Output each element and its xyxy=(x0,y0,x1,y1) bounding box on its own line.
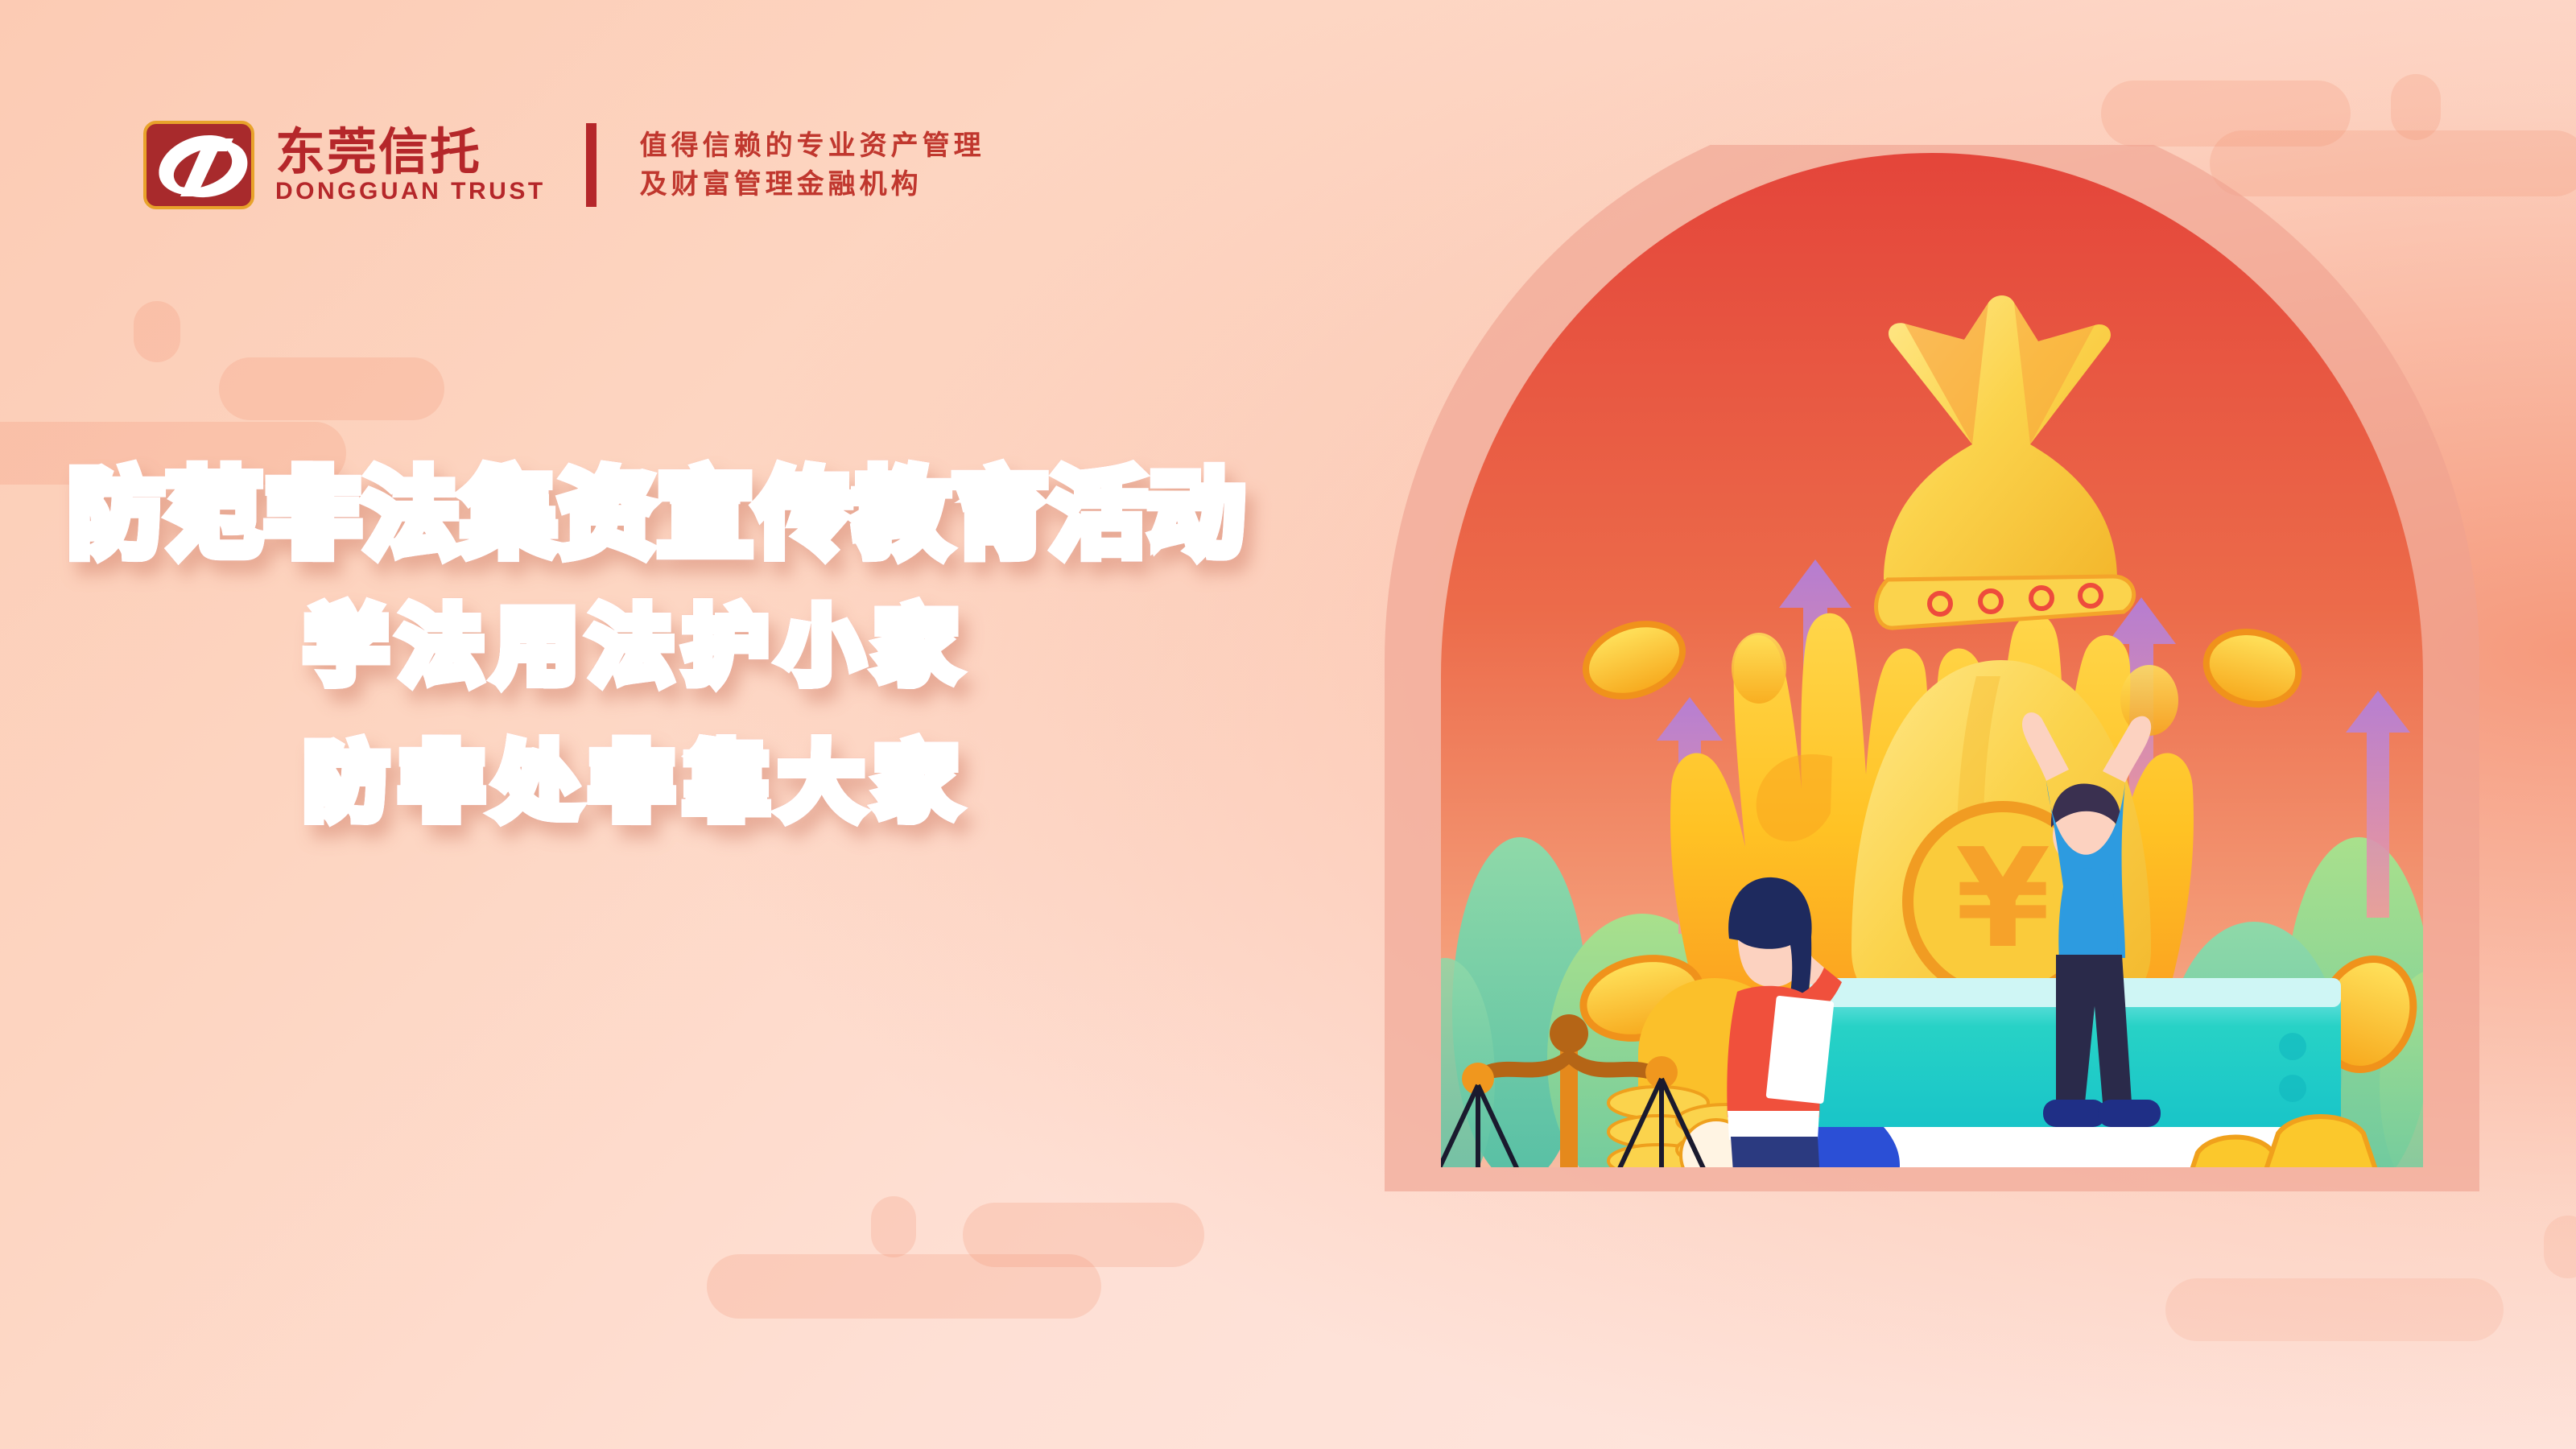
deco-dot-bottom xyxy=(871,1196,916,1257)
deco-dot-left xyxy=(134,301,180,362)
dongguan-trust-swoosh-mark-icon xyxy=(143,121,254,209)
company-name-en: DONGGUAN TRUST xyxy=(275,180,546,204)
tagline-line-1: 值得信赖的专业资产管理 xyxy=(640,132,985,159)
headline-line-1: 防范非法集资宣传教育活动 xyxy=(68,451,1320,579)
yen-symbol: ¥ xyxy=(1955,819,2050,979)
brand-header: 东莞信托 DONGGUAN TRUST 值得信赖的专业资产管理 及财富管理金融机… xyxy=(143,121,985,209)
book-white-bottom xyxy=(1763,1198,2375,1272)
headline-line-2: 学法用法护小家 xyxy=(304,579,1320,714)
brand-divider xyxy=(586,123,597,207)
anti-illegal-fundraising-illustration: ¥ xyxy=(1320,145,2544,1304)
coin-on-books xyxy=(1794,1179,1877,1285)
deco-bar-left-1 xyxy=(219,357,444,420)
company-name-cn: 东莞信托 xyxy=(275,126,546,177)
deco-dot-top-right xyxy=(2391,74,2441,140)
deco-dot-far-right xyxy=(2544,1216,2576,1278)
headline-line-3: 防非处非靠大家 xyxy=(304,715,1320,850)
brand-wordmark: 东莞信托 DONGGUAN TRUST xyxy=(275,126,546,203)
brand-tagline: 值得信赖的专业资产管理 及财富管理金融机构 xyxy=(640,132,985,198)
deco-bar-bottom-2 xyxy=(707,1254,1101,1319)
headline-block: 防范非法集资宣传教育活动 学法用法护小家 防非处非靠大家 xyxy=(0,451,1320,850)
poster-canvas: 东莞信托 DONGGUAN TRUST 值得信赖的专业资产管理 及财富管理金融机… xyxy=(0,0,2576,1449)
tagline-line-2: 及财富管理金融机构 xyxy=(640,171,985,198)
